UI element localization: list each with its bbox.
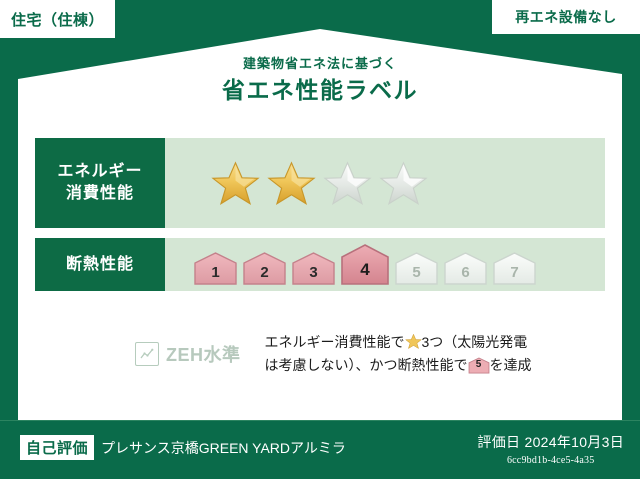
zeh-standard-section: ZEH水準 エネルギー消費性能で3つ（太陽光発電 は考慮しない）、かつ断熱性能で… (35, 331, 605, 376)
insulation-badge-6: 6 (443, 251, 488, 286)
row-energy-header-line1: エネルギー (57, 161, 142, 183)
insulation-badge-3: 3 (291, 251, 336, 286)
star-rating (211, 160, 428, 207)
insulation-badge-5: 5 (394, 251, 439, 286)
insulation-badge-7-label: 7 (492, 264, 537, 281)
label-footer: 自己評価 プレサンス京橋GREEN YARDアルミラ 評価日 2024年10月3… (0, 421, 640, 479)
tag-renewable-energy: 再エネ設備なし (492, 0, 640, 34)
zeh-desc-part2: （太陽光発電 (443, 334, 527, 350)
row-insulation-performance: 断熱性能 1 2 (35, 238, 605, 291)
title-subtitle: 建築物省エネ法に基づく (0, 56, 640, 72)
row-energy-header-line2: 消費性能 (66, 183, 134, 205)
star-icon-filled-1 (211, 160, 260, 207)
footer-left: 自己評価 プレサンス京橋GREEN YARDアルミラ (20, 435, 346, 460)
zeh-mark: ZEH水準 (135, 341, 241, 367)
insulation-badge-3-label: 3 (291, 264, 336, 281)
building-name: プレサンス京橋GREEN YARDアルミラ (101, 438, 346, 458)
insulation-badge-inline: 5 (468, 357, 490, 374)
zeh-desc-star-count: 3つ (422, 334, 444, 350)
title-main: 省エネ性能ラベル (0, 77, 640, 105)
evaluation-id: 6cc9bd1b-4ce5-4a35 (477, 455, 624, 466)
insulation-badge-2: 2 (242, 251, 287, 286)
insulation-badge-1: 1 (193, 251, 238, 286)
star-icon-empty-2 (379, 160, 428, 207)
zeh-label: ZEH水準 (166, 341, 241, 367)
insulation-badge-5-label: 5 (394, 264, 439, 281)
energy-performance-label: 住宅（住棟） 再エネ設備なし 建築物省エネ法に基づく 省エネ性能ラベル エネルギ… (0, 0, 640, 479)
insulation-badge-4-current: 4 (340, 243, 390, 286)
star-icon-empty-1 (323, 160, 372, 207)
zeh-desc-line2-part2: を達成 (490, 357, 532, 373)
row-insulation-header-line1: 断熱性能 (66, 254, 134, 276)
row-insulation-body: 1 2 3 (165, 238, 605, 291)
insulation-level-badges: 1 2 3 (193, 243, 537, 286)
tag-building-type: 住宅（住棟） (0, 0, 115, 38)
footer-right: 評価日 2024年10月3日 6cc9bd1b-4ce5-4a35 (477, 432, 624, 466)
star-icon-filled-2 (267, 160, 316, 207)
zeh-description: エネルギー消費性能で3つ（太陽光発電 は考慮しない）、かつ断熱性能で5を達成 (265, 331, 532, 376)
insulation-badge-1-label: 1 (193, 264, 238, 281)
row-energy-performance: エネルギー 消費性能 (35, 138, 605, 228)
row-insulation-header: 断熱性能 (35, 238, 165, 291)
chart-icon (135, 342, 159, 366)
self-evaluation-badge: 自己評価 (20, 435, 94, 460)
evaluation-date: 評価日 2024年10月3日 (477, 432, 624, 452)
insulation-badge-4-label: 4 (340, 260, 390, 280)
row-energy-header: エネルギー 消費性能 (35, 138, 165, 228)
zeh-desc-part1: エネルギー消費性能で (265, 334, 405, 350)
label-title-block: 建築物省エネ法に基づく 省エネ性能ラベル (0, 56, 640, 104)
insulation-badge-6-label: 6 (443, 264, 488, 281)
insulation-badge-7: 7 (492, 251, 537, 286)
insulation-badge-inline-label: 5 (468, 357, 490, 373)
star-icon-inline (405, 333, 422, 350)
row-energy-body (165, 138, 605, 228)
zeh-desc-line2-part1: は考慮しない）、かつ断熱性能で (265, 357, 468, 373)
insulation-badge-2-label: 2 (242, 264, 287, 281)
